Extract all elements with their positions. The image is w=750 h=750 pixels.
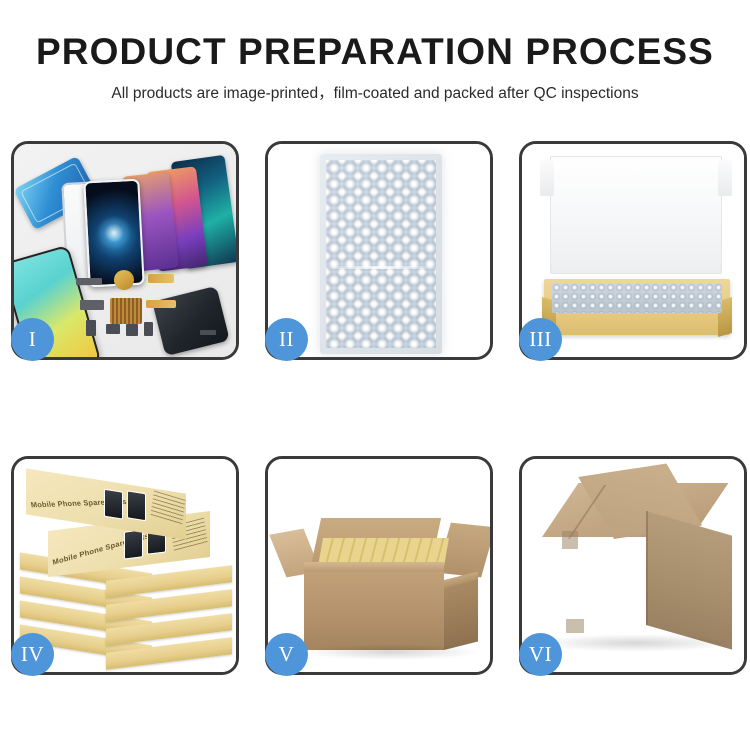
earpiece-mesh [126, 324, 138, 336]
step-panel-3[interactable]: III [519, 141, 747, 360]
sim-tray [86, 320, 96, 336]
step-panel-6[interactable]: VI [519, 456, 747, 675]
flex-cable-1 [148, 274, 174, 283]
carton-front-face [304, 572, 444, 650]
tweezers [200, 330, 216, 335]
bubble-texture [326, 160, 436, 348]
box-lid [550, 156, 722, 274]
carton-shadow [538, 634, 734, 652]
steps-grid: I II [11, 141, 739, 675]
box-screen-art-1 [104, 489, 123, 520]
step-badge-6: VI [519, 633, 562, 676]
step-badge-4: IV [11, 633, 54, 676]
box-spec-lines-1 [150, 490, 185, 525]
carton-right-face [646, 511, 732, 650]
step-badge-3: III [519, 318, 562, 361]
vibrator-motor [106, 324, 120, 334]
header: PRODUCT PREPARATION PROCESS All products… [0, 30, 750, 105]
phone-lcd-burst [83, 179, 144, 288]
battery-connector [76, 278, 102, 285]
flex-cable-2 [146, 300, 176, 308]
pouch-seam [324, 266, 438, 269]
step-badge-1: I [11, 318, 54, 361]
box-screen-art-2 [127, 490, 146, 521]
carton-front-face [542, 529, 646, 641]
step-badge-5: V [265, 633, 308, 676]
logic-board [110, 298, 142, 324]
screw-set [144, 322, 153, 336]
step-panel-1[interactable]: I [11, 141, 239, 360]
phone-back-housing [152, 286, 230, 356]
bubble-pouch [320, 154, 442, 354]
carton-shadow [302, 644, 482, 660]
box-tray [544, 279, 730, 335]
step-panel-5[interactable]: V [265, 456, 493, 675]
carton-tape-bottom [566, 619, 584, 633]
carton-tape-top [562, 531, 578, 549]
camera-module [80, 300, 104, 310]
page-title: PRODUCT PREPARATION PROCESS [0, 30, 750, 74]
step-badge-2: II [265, 318, 308, 361]
step-panel-4[interactable]: Mobile Phone Spare Parts Mobile Phone Sp… [11, 456, 239, 675]
box-screen-art-3 [124, 529, 143, 559]
carton-corner-edge [646, 511, 648, 625]
bubble-wrapped-contents [552, 283, 722, 313]
page-subtitle: All products are image-printed，film-coat… [0, 83, 750, 105]
step-panel-2[interactable]: II [265, 141, 493, 360]
speaker-module [114, 270, 134, 290]
carton-rim-front [304, 562, 444, 572]
product-preparation-infographic: PRODUCT PREPARATION PROCESS All products… [0, 0, 750, 750]
carton-right-face [444, 580, 478, 650]
